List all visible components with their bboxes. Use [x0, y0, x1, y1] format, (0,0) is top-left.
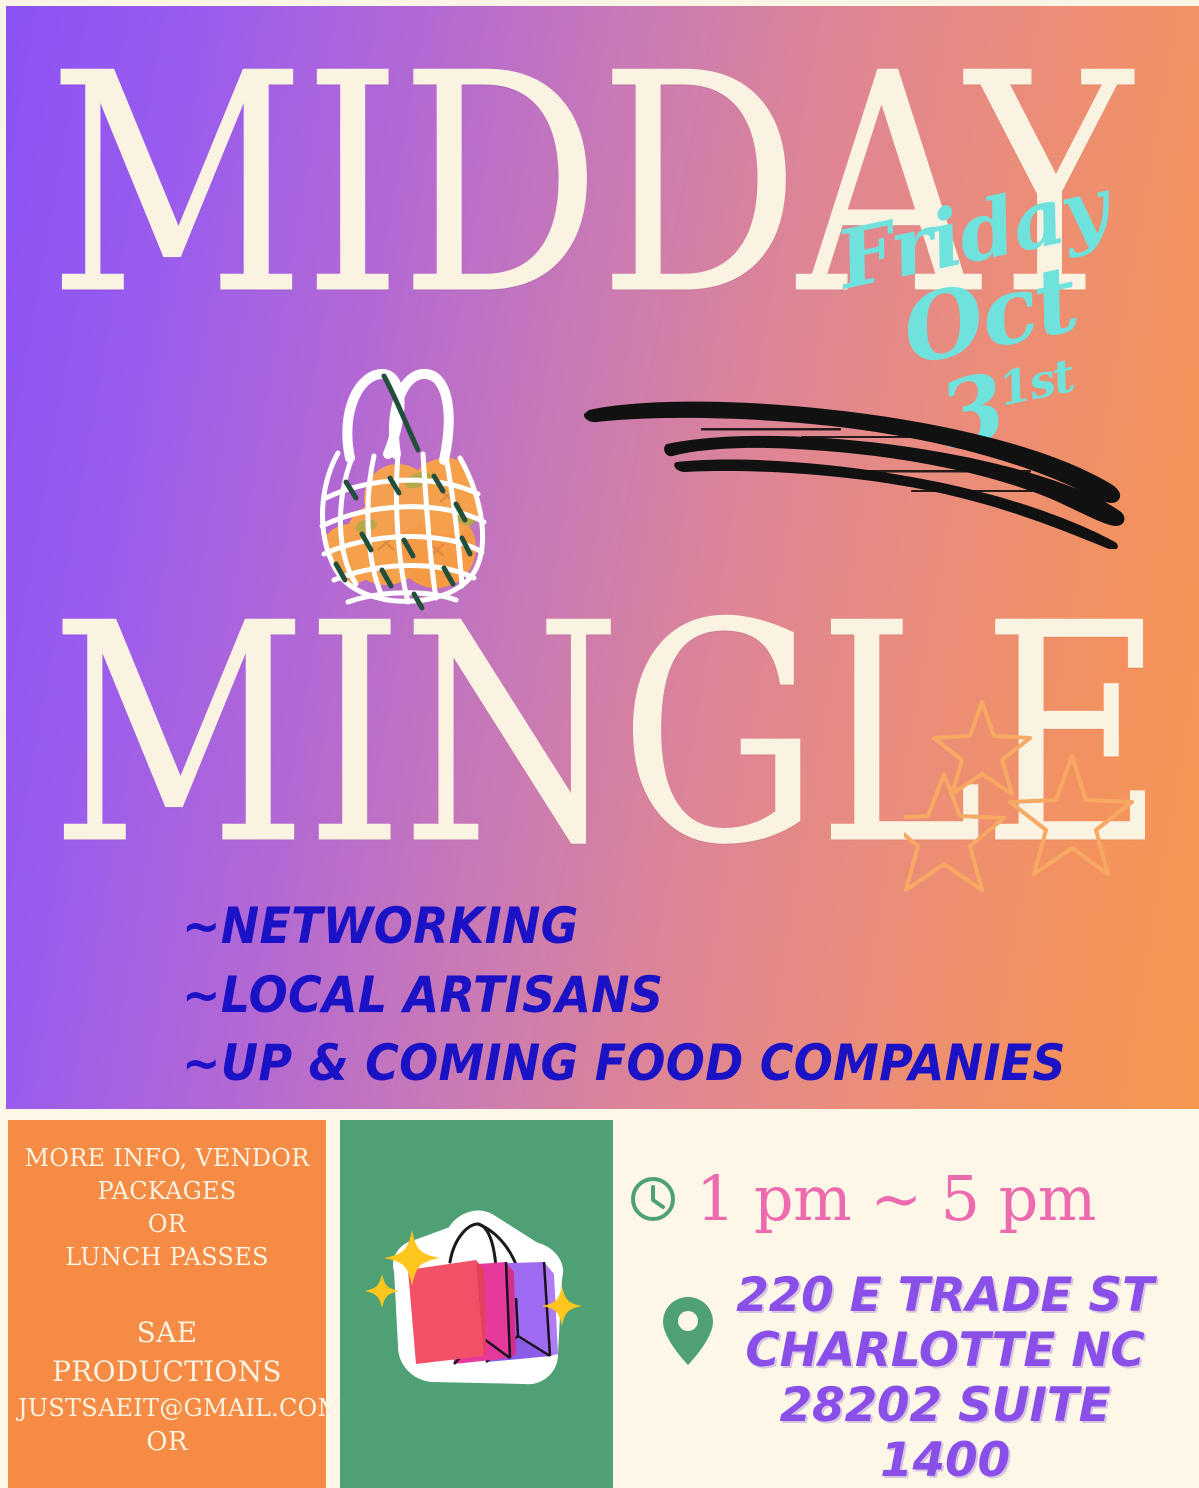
organizer-name: SAE PRODUCTIONS [18, 1314, 316, 1391]
spacer [18, 1274, 316, 1314]
hero-gradient-panel: MIDDAY [6, 6, 1199, 1109]
event-flyer: MIDDAY [0, 0, 1199, 1488]
contact-info-panel: MORE INFO, VENDOR PACKAGES OR LUNCH PASS… [8, 1120, 326, 1488]
feature-list-item: ~NETWORKING [182, 892, 1102, 961]
contact-heading-line: MORE INFO, VENDOR [18, 1142, 316, 1175]
address-line: 220 E TRADE ST [700, 1268, 1190, 1323]
contact-email[interactable]: JUSTSAEIT@GMAIL.COM [18, 1392, 316, 1425]
contact-heading-line: LUNCH PASSES [18, 1241, 316, 1274]
feature-list-item: ~LOCAL ARTISANS [182, 961, 1102, 1030]
black-brush-stroke-decoration [581, 384, 1126, 549]
event-address: 220 E TRADE ST CHARLOTTE NC 28202 SUITE … [700, 1268, 1190, 1488]
event-time-row: 1 pm ~ 5 pm [628, 1168, 1096, 1230]
address-line: CHARLOTTE NC [700, 1323, 1190, 1378]
outlined-stars-decoration [904, 694, 1139, 899]
event-details-panel: 1 pm ~ 5 pm 220 E TRADE ST CHARLOTTE NC … [620, 1120, 1199, 1488]
shopping-bags-sticker-illustration [358, 1178, 600, 1420]
address-line: 28202 SUITE [700, 1378, 1190, 1433]
contact-heading: MORE INFO, VENDOR PACKAGES OR LUNCH PASS… [18, 1142, 316, 1274]
shopping-bags-panel [340, 1120, 613, 1488]
contact-heading-line: PACKAGES [18, 1175, 316, 1208]
event-time: 1 pm ~ 5 pm [696, 1168, 1096, 1230]
contact-or-separator: OR [18, 1425, 316, 1461]
address-line: 1400 [700, 1433, 1190, 1488]
clock-icon [628, 1174, 678, 1224]
feature-list-item: ~UP & COMING FOOD COMPANIES [182, 1029, 1102, 1098]
contact-phone[interactable]: 980.288.8682 [18, 1481, 316, 1488]
feature-list: ~NETWORKING ~LOCAL ARTISANS ~UP & COMING… [182, 892, 1182, 1098]
contact-heading-line: OR [18, 1208, 316, 1241]
